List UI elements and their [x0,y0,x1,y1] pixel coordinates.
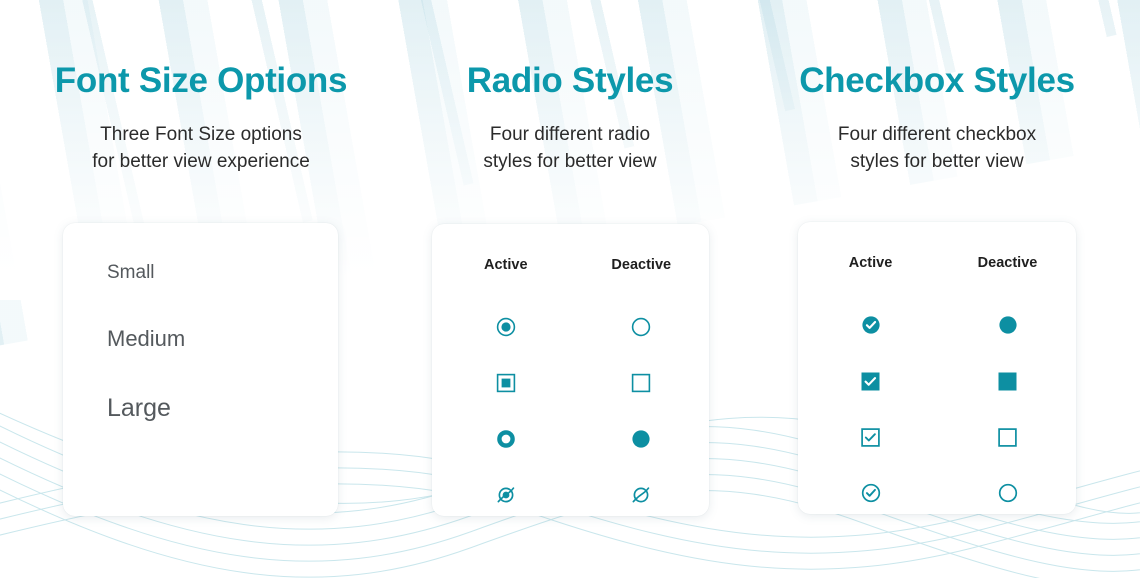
list-item-font-large[interactable]: Large [107,396,338,421]
page-title-checkbox-styles: Checkbox Styles [762,62,1112,100]
table-row [432,299,709,355]
column-checkbox-styles: Checkbox Styles Four different checkbox … [762,62,1112,176]
subtitle-line: for better view experience [36,149,366,176]
font-size-list: Small Medium Large [63,223,338,421]
table-row [432,355,709,411]
square-filled-icon[interactable] [939,372,1076,391]
table-row [798,409,1076,465]
radio-slash-filled-icon[interactable] [438,484,574,506]
subtitle-line: styles for better view [762,149,1112,176]
square-outline-icon[interactable] [939,428,1076,447]
radio-ring-dot-icon[interactable] [438,317,574,337]
checkbox-styles-table: Active Deactive [798,222,1076,521]
radio-ring-empty-icon[interactable] [574,317,710,337]
subtitle-line: Four different radio [412,122,728,149]
section-subtitle-checkbox-styles: Four different checkbox styles for bette… [762,122,1112,176]
radio-square-empty-icon[interactable] [574,373,710,393]
check-square-outline-icon[interactable] [802,428,939,447]
section-subtitle-font-size: Three Font Size options for better view … [36,122,366,176]
column-header-deactive: Deactive [574,257,710,273]
circle-outline-icon[interactable] [939,483,1076,503]
column-radio-styles: Radio Styles Four different radio styles… [412,62,728,176]
subtitle-line: Three Font Size options [36,122,366,149]
card-checkbox-styles: Active Deactive [798,222,1076,514]
column-header-active: Active [438,257,574,273]
card-radio-styles: Active Deactive [432,224,709,516]
list-item-font-small[interactable]: Small [107,263,338,282]
column-header-deactive: Deactive [939,255,1076,271]
circle-filled-icon[interactable] [939,315,1076,335]
table-row [798,353,1076,409]
table-row [432,467,709,523]
table-row [798,297,1076,353]
page-root: Font Size Options Three Font Size option… [0,0,1140,578]
subtitle-line: Four different checkbox [762,122,1112,149]
column-font-size-options: Font Size Options Three Font Size option… [36,62,366,176]
check-circle-outline-icon[interactable] [802,483,939,503]
radio-styles-table: Active Deactive [432,224,709,523]
subtitle-line: styles for better view [412,149,728,176]
radio-circle-filled-icon[interactable] [574,429,710,449]
table-row [432,411,709,467]
card-font-size-options: Small Medium Large [63,223,338,516]
page-title-radio-styles: Radio Styles [412,62,728,100]
section-subtitle-radio-styles: Four different radio styles for better v… [412,122,728,176]
page-title-font-size: Font Size Options [36,62,366,100]
list-item-font-medium[interactable]: Medium [107,328,338,350]
radio-donut-icon[interactable] [438,429,574,449]
radio-slash-empty-icon[interactable] [574,484,710,506]
check-circle-filled-icon[interactable] [802,315,939,335]
checkbox-table-header: Active Deactive [798,255,1076,271]
check-square-filled-icon[interactable] [802,372,939,391]
column-header-active: Active [802,255,939,271]
table-row [798,465,1076,521]
radio-table-header: Active Deactive [432,257,709,273]
radio-square-filled-icon[interactable] [438,373,574,393]
